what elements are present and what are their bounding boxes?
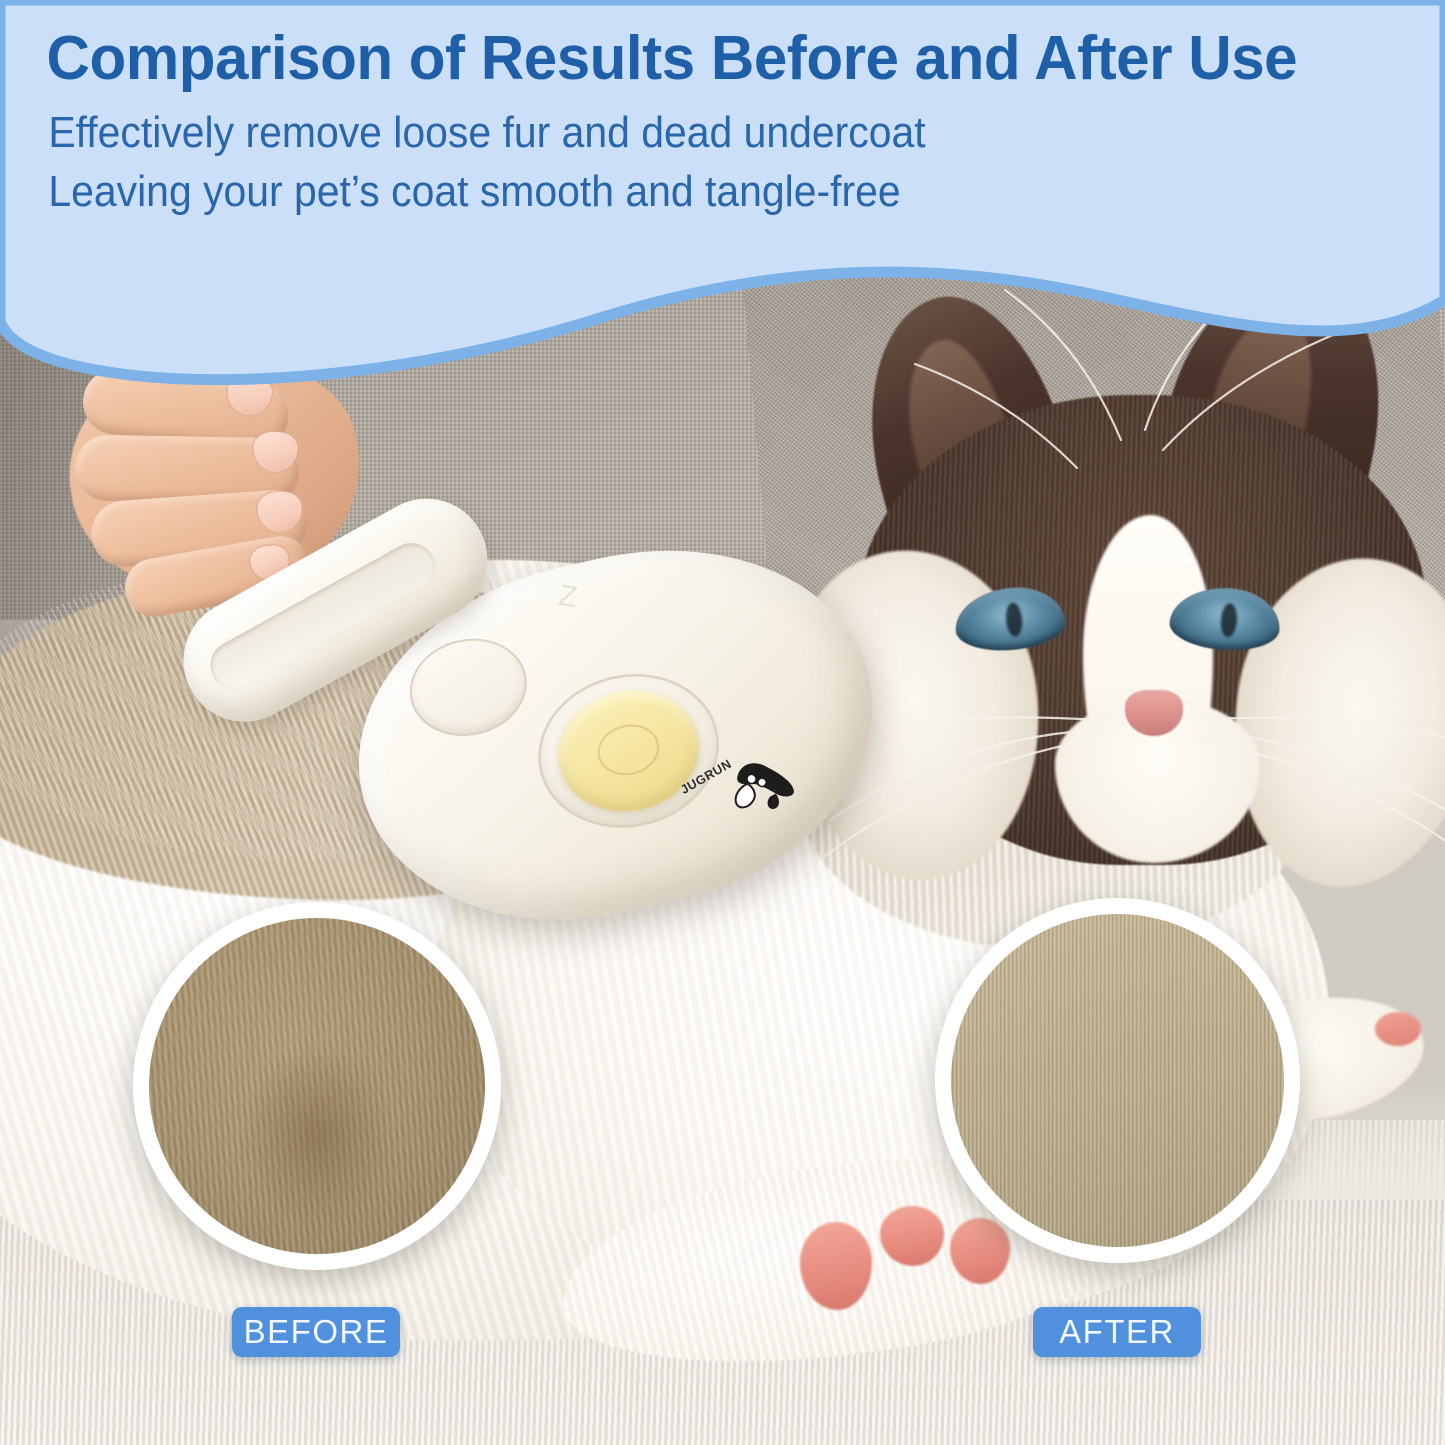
- paw-bean-2: [880, 1206, 944, 1266]
- before-zoom-circle: [133, 902, 501, 1270]
- after-zoom-circle: [935, 898, 1300, 1263]
- cat-head: [845, 300, 1445, 860]
- after-badge: AFTER: [1033, 1307, 1201, 1357]
- before-badge: BEFORE: [232, 1307, 400, 1357]
- brand-logo: JUGRUN: [678, 746, 814, 831]
- paw-bean-rear: [1375, 1012, 1421, 1046]
- after-fur-closeup: [951, 914, 1284, 1247]
- dog-head-logo-icon: [723, 754, 802, 820]
- cat-pupil-right: [1219, 603, 1237, 638]
- before-fur-tuft: [243, 1046, 393, 1226]
- paw-bean-1: [800, 1222, 872, 1310]
- brush-button-dimple: [593, 719, 665, 782]
- product-photo: Z JUGRUN: [0, 0, 1445, 1445]
- cat-pupil-left: [1004, 602, 1023, 637]
- before-fur-closeup: [149, 918, 485, 1254]
- product-infographic: Z JUGRUN: [0, 0, 1445, 1445]
- after-fur-texture: [951, 914, 1284, 1247]
